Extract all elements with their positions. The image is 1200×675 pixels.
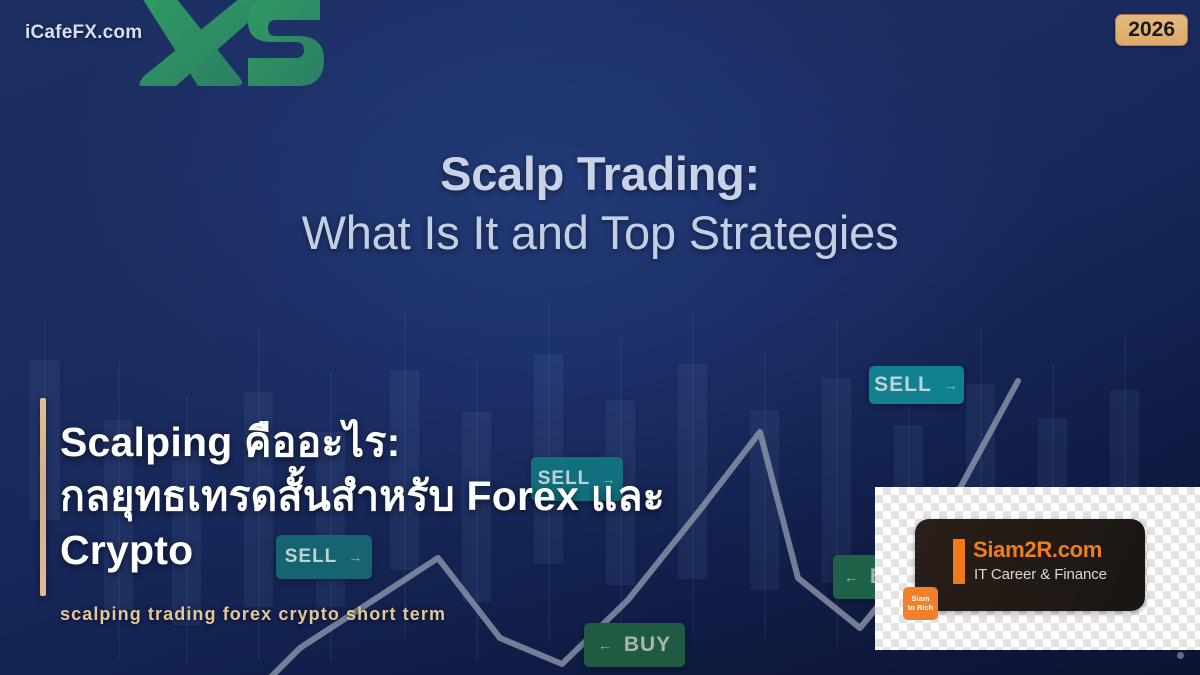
arrow-left-icon: ← bbox=[598, 637, 613, 653]
thai-headline: Scalping คืออะไร: กลยุทธเทรดสั้นสำหรับ F… bbox=[60, 415, 860, 577]
thai-line-3: Crypto bbox=[60, 523, 860, 577]
accent-bar bbox=[40, 398, 46, 596]
watermark-tab-line-2: to Rich bbox=[908, 604, 933, 612]
watermark-corner-tab: Siam to Rich bbox=[903, 587, 938, 620]
slide-canvas: iCafeFX.com 2026 Scalp Trading: What Is … bbox=[0, 0, 1200, 675]
watermark-overlay: Siam2R.com IT Career & Finance Siam to R… bbox=[875, 487, 1200, 650]
page-title: Scalp Trading: What Is It and Top Strate… bbox=[0, 148, 1200, 261]
buy-badge-1[interactable]: ← BUY bbox=[584, 623, 685, 667]
arrow-right-icon: → bbox=[944, 377, 959, 393]
title-line-2: What Is It and Top Strategies bbox=[0, 205, 1200, 261]
thai-line-1: Scalping คืออะไร: bbox=[60, 415, 860, 469]
sell-badge-label: SELL bbox=[874, 373, 932, 397]
xs-logo-icon bbox=[136, 0, 326, 100]
site-brand-label: iCafeFX.com bbox=[25, 22, 142, 44]
corner-dot-icon bbox=[1177, 652, 1184, 659]
watermark-tagline: IT Career & Finance bbox=[974, 566, 1107, 583]
sell-badge-1[interactable]: SELL → bbox=[869, 366, 964, 404]
watermark-card: Siam2R.com IT Career & Finance bbox=[915, 519, 1145, 611]
year-badge: 2026 bbox=[1115, 14, 1188, 46]
thai-line-2: กลยุทธเทรดสั้นสำหรับ Forex และ bbox=[60, 469, 860, 523]
buy-badge-label: BUY bbox=[624, 633, 671, 657]
watermark-accent-bar bbox=[953, 539, 965, 584]
watermark-brand-name: Siam2R.com bbox=[973, 537, 1102, 563]
title-line-1: Scalp Trading: bbox=[0, 148, 1200, 201]
keywords-line: scalping trading forex crypto short term bbox=[60, 604, 446, 625]
